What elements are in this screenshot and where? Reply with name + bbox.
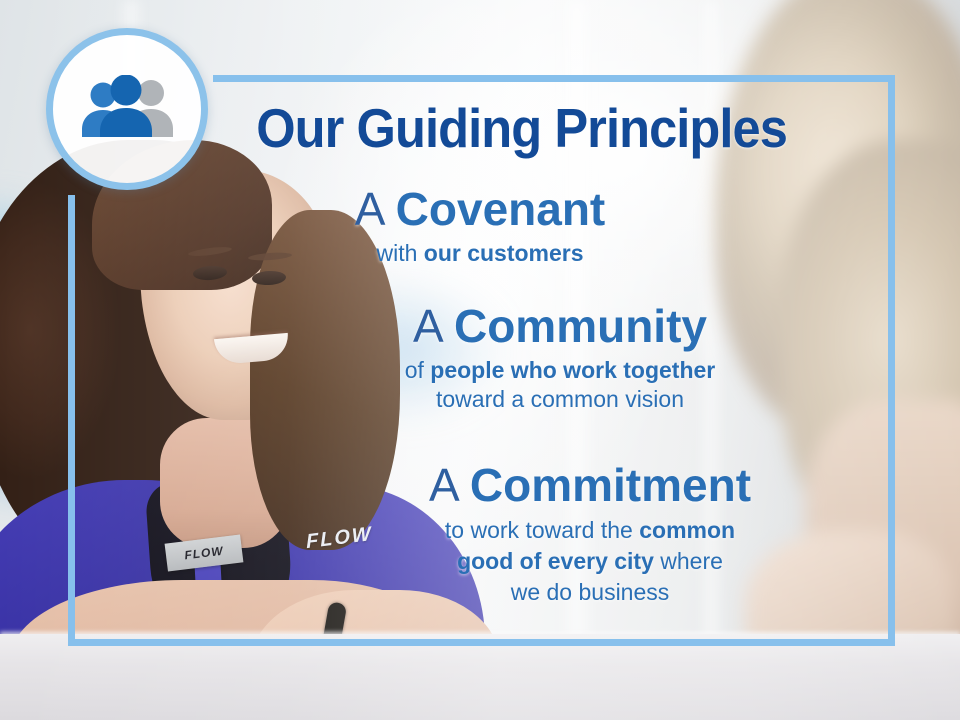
commitment-sub-part-1: to work toward the <box>445 517 639 543</box>
principle-commitment-keyword: Commitment <box>470 459 751 511</box>
commitment-sub-part-2: common <box>639 517 735 543</box>
principle-community: A Community of people who work together … <box>260 303 860 415</box>
people-group-icon <box>75 75 179 143</box>
name-badge-logo-text: FLOW <box>184 544 225 563</box>
principle-community-article: A <box>413 300 441 352</box>
principle-covenant-keyword: Covenant <box>396 183 606 235</box>
principle-commitment: A Commitment to work toward the commongo… <box>300 462 880 607</box>
principle-commitment-heading: A Commitment <box>300 462 880 509</box>
principle-commitment-subtext: to work toward the commongood of every c… <box>300 515 880 607</box>
principle-community-subtext: of people who work together toward a com… <box>260 356 860 415</box>
people-badge <box>46 28 208 190</box>
principle-covenant-subtext: with our customers <box>218 239 742 268</box>
principle-covenant: A Covenant with our customers <box>218 186 742 268</box>
community-sub-part-1: of <box>405 357 431 383</box>
covenant-sub-part-1: with <box>376 240 423 266</box>
covenant-sub-part-2: our customers <box>424 240 584 266</box>
principle-community-heading: A Community <box>260 303 860 350</box>
principle-community-keyword: Community <box>454 300 707 352</box>
community-sub-part-3: toward a common vision <box>436 386 684 412</box>
guiding-principles-graphic: FLOW FLOW Our Guiding Principles A Coven… <box>0 0 960 720</box>
community-sub-part-2: people who work together <box>430 357 715 383</box>
commitment-sub-part-3: good of every city wherewe do business <box>457 548 723 605</box>
desk-surface <box>0 634 960 720</box>
principle-covenant-article: A <box>355 183 383 235</box>
page-title: Our Guiding Principles <box>218 96 825 160</box>
principle-covenant-heading: A Covenant <box>218 186 742 233</box>
principle-commitment-article: A <box>429 459 457 511</box>
